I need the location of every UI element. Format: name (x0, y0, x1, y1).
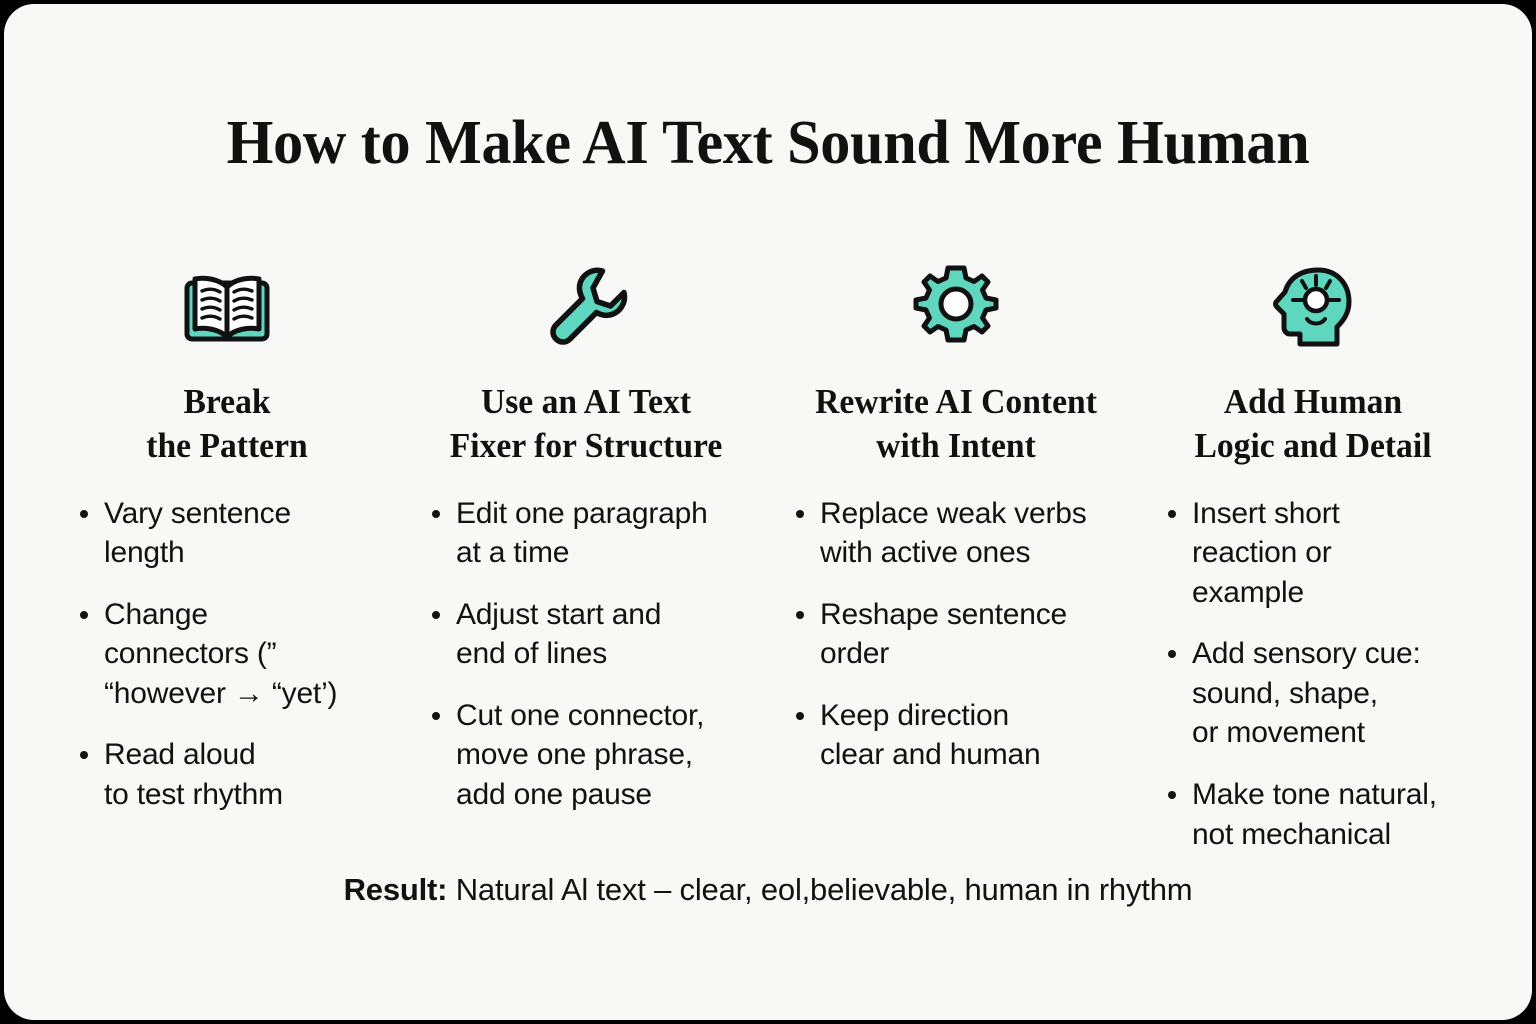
list-item: Reshape sentence order (790, 595, 1136, 674)
list-item: Make tone natural, not mechanical (1162, 775, 1478, 854)
bullet-list: Replace weak verbs with active ones Resh… (790, 494, 1136, 776)
column-use-ai-text-fixer: Use an AI Text Fixer for Structure Edit … (402, 262, 770, 837)
list-item: Insert short reaction or example (1162, 494, 1478, 613)
column-rewrite-ai-content: Rewrite AI Content with Intent Replace w… (770, 262, 1142, 797)
list-item: Replace weak verbs with active ones (790, 494, 1136, 573)
result-text: Natural Al text – clear, eol,believable,… (447, 872, 1192, 907)
columns-container: Break the Pattern Vary sentence length C… (52, 262, 1484, 876)
list-item: Add sensory cue: sound, shape, or moveme… (1162, 634, 1478, 753)
open-book-icon (58, 262, 396, 354)
page-title: How to Make AI Text Sound More Human (27, 112, 1509, 174)
column-break-the-pattern: Break the Pattern Vary sentence length C… (52, 262, 402, 837)
column-heading: Break the Pattern (65, 380, 389, 468)
list-item: Vary sentence length (74, 494, 396, 573)
list-item: Change connectors (” “however → “yet’) (74, 595, 396, 714)
infographic-card: How to Make AI Text Sound More Human (4, 4, 1532, 1020)
list-item: Edit one paragraph at a time (426, 494, 764, 573)
column-heading: Add Human Logic and Detail (1155, 380, 1472, 468)
bullet-list: Insert short reaction or example Add sen… (1162, 494, 1478, 855)
result-label: Result: (344, 872, 448, 907)
column-add-human-logic: Add Human Logic and Detail Insert short … (1142, 262, 1484, 876)
column-heading: Use an AI Text Fixer for Structure (415, 380, 757, 468)
result-line: Result: Natural Al text – clear, eol,bel… (4, 872, 1532, 908)
head-idea-icon (1148, 262, 1478, 354)
bullet-list: Vary sentence length Change connectors (… (74, 494, 396, 815)
gear-icon (776, 262, 1136, 354)
wrench-icon (408, 262, 764, 354)
list-item: Adjust start and end of lines (426, 595, 764, 674)
bullet-list: Edit one paragraph at a time Adjust star… (426, 494, 764, 815)
list-item: Read aloud to test rhythm (74, 735, 396, 814)
list-item: Keep direction clear and human (790, 696, 1136, 775)
column-heading: Rewrite AI Content with Intent (783, 380, 1129, 468)
list-item: Cut one connector, move one phrase, add … (426, 696, 764, 815)
